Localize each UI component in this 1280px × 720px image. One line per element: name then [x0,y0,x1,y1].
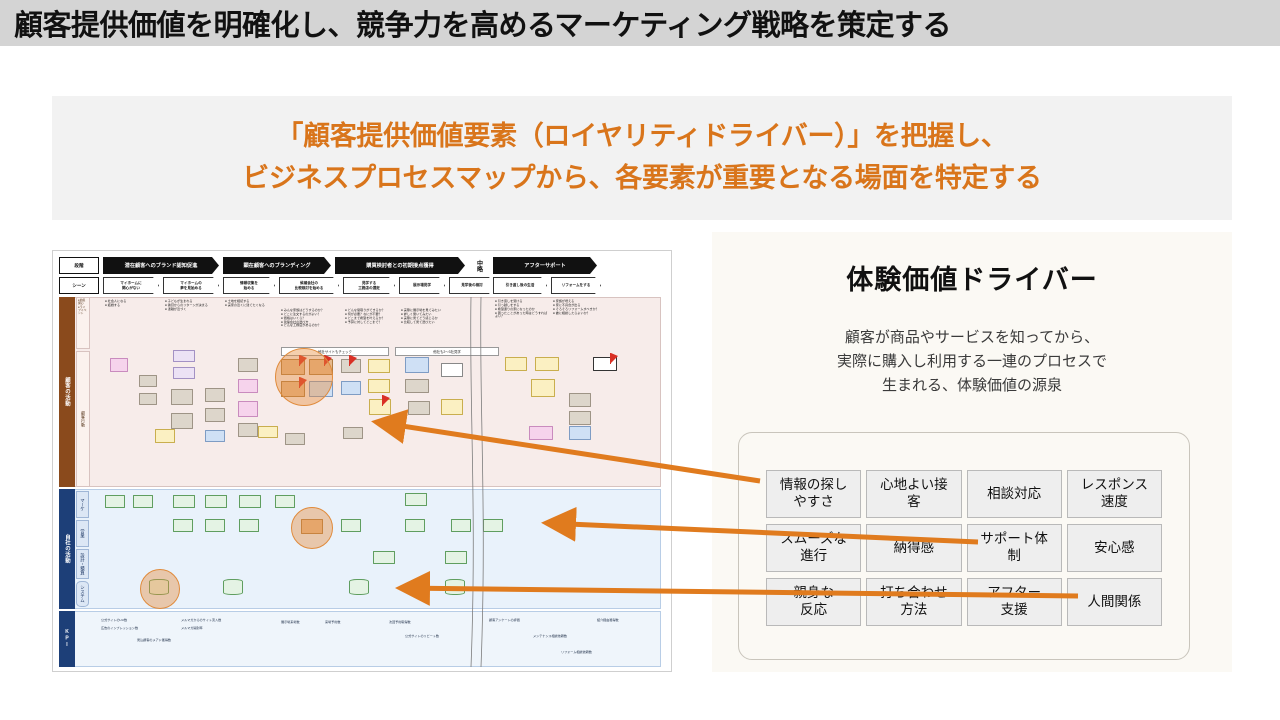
highlight-circle-support-node [291,507,333,549]
driver-cell-2[interactable]: 相談対応 [967,470,1062,518]
business-process-map[interactable]: 段階 シーン 潜在顧客へのブランド認知促進 顕在顧客へのブランディング 購買検討… [52,250,672,672]
driver-cell-5[interactable]: 納得感 [866,524,961,572]
driver-cell-3[interactable]: レスポンス 速度 [1067,470,1162,518]
subtitle-line-2: ビジネスプロセスマップから、各要素が重要となる場面を特定する [242,158,1041,200]
driver-cell-10[interactable]: アフター 支援 [967,578,1062,626]
driver-desc-line-1: 顧客が商品やサービスを知ってから、 [730,326,1214,350]
business-process-map-canvas: 段階 シーン 潜在顧客へのブランド認知促進 顕在顧客へのブランディング 購買検討… [53,251,673,673]
subtitle-line-1: 「顧客提供価値要素（ロイヤリティドライバー）」を把握し、 [276,116,1007,158]
driver-cell-9[interactable]: 打ち合わせ 方法 [866,578,961,626]
driver-cell-11[interactable]: 人間関係 [1067,578,1162,626]
driver-desc-line-3: 生まれる、体験価値の源泉 [730,374,1214,398]
driver-grid: 情報の探し やすさ 心地よい接 客 相談対応 レスポンス 速度 スムーズな 進行… [766,470,1162,626]
map-omission-separator [53,251,673,673]
driver-panel-description: 顧客が商品やサービスを知ってから、 実際に購入し利用する一連のプロセスで 生まれ… [730,326,1214,398]
driver-cell-8[interactable]: 親身な 反応 [766,578,861,626]
driver-desc-line-2: 実際に購入し利用する一連のプロセスで [730,350,1214,374]
driver-cell-1[interactable]: 心地よい接 客 [866,470,961,518]
slide-title-bar: 顧客提供価値を明確化し、競争力を高めるマーケティング戦略を策定する [0,0,1280,46]
driver-cell-6[interactable]: サポート体 制 [967,524,1062,572]
page-title: 顧客提供価値を明確化し、競争力を高めるマーケティング戦略を策定する [0,2,951,44]
subtitle-panel: 「顧客提供価値要素（ロイヤリティドライバー）」を把握し、 ビジネスプロセスマップ… [52,96,1232,220]
highlight-circle-system-node [140,569,180,609]
highlight-circle-detail-compare [275,348,333,406]
driver-cell-0[interactable]: 情報の探し やすさ [766,470,861,518]
driver-cell-7[interactable]: 安心感 [1067,524,1162,572]
driver-cell-4[interactable]: スムーズな 進行 [766,524,861,572]
driver-panel-heading: 体験価値ドライバー [712,258,1232,297]
